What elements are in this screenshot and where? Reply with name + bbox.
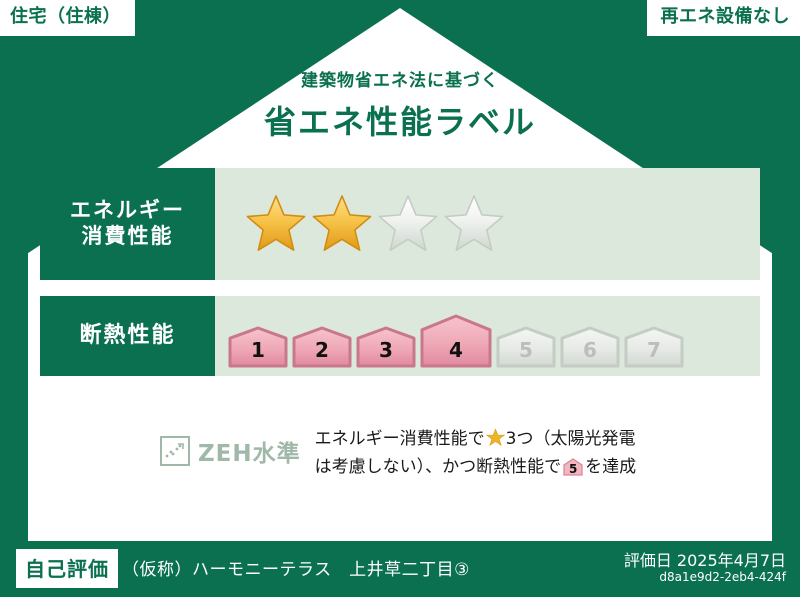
energy-label-line2: 消費性能 xyxy=(82,224,174,250)
star-empty-icon xyxy=(443,193,505,255)
zeh-desc-line1-a: エネルギー消費性能で xyxy=(315,429,485,449)
insulation-level-badge: 5 xyxy=(495,325,557,369)
insulation-level-badge: 3 xyxy=(355,325,417,369)
insulation-level-number: 1 xyxy=(227,338,289,362)
insulation-level-number: 7 xyxy=(623,338,685,362)
energy-performance-label: 住宅（住棟） 再エネ設備なし 建築物省エネ法に基づく 省エネ性能ラベル エネルギ… xyxy=(0,0,800,597)
zeh-description-line2: は考慮しない）、かつ断熱性能で5を達成 xyxy=(315,454,760,486)
label-title: 建築物省エネ法に基づく 省エネ性能ラベル xyxy=(0,66,800,143)
zeh-mark: ZEH水準 xyxy=(160,434,301,468)
insulation-level-number: 3 xyxy=(355,338,417,362)
inline-star-icon xyxy=(486,428,505,447)
zeh-description-line1: エネルギー消費性能で3つ（太陽光発電 xyxy=(315,426,760,454)
insulation-level-number: 6 xyxy=(559,338,621,362)
title-subtitle: 建築物省エネ法に基づく xyxy=(0,66,800,91)
energy-label-line1: エネルギー xyxy=(70,198,185,224)
insulation-level-number: 2 xyxy=(291,338,353,362)
insulation-label-text: 断熱性能 xyxy=(79,323,175,350)
evaluation-date: 評価日 2025年4月7日 xyxy=(624,547,786,571)
evaluation-type-badge: 自己評価 xyxy=(16,549,118,588)
zeh-chart-icon xyxy=(160,436,190,466)
insulation-level-badge: 6 xyxy=(559,325,621,369)
insulation-performance-label: 断熱性能 xyxy=(40,296,215,376)
title-main: 省エネ性能ラベル xyxy=(0,97,800,143)
star-empty-icon xyxy=(377,193,439,255)
building-name: （仮称）ハーモニーテラス 上井草二丁目③ xyxy=(122,555,470,580)
zeh-mark-label: ZEH水準 xyxy=(198,434,301,468)
zeh-desc-line1-b: 3つ（太陽光発電 xyxy=(506,429,636,449)
star-filled-icon xyxy=(245,193,307,255)
insulation-level-badge: 1 xyxy=(227,325,289,369)
zeh-description: エネルギー消費性能で3つ（太陽光発電 は考慮しない）、かつ断熱性能で5を達成 xyxy=(315,420,760,485)
insulation-level-badge: 2 xyxy=(291,325,353,369)
inline-house-badge: 5 xyxy=(563,458,583,486)
zeh-standard-row: ZEH水準 エネルギー消費性能で3つ（太陽光発電 は考慮しない）、かつ断熱性能で… xyxy=(40,420,760,485)
insulation-performance-row: 断熱性能 1234567 xyxy=(40,296,760,376)
insulation-level-badge: 7 xyxy=(623,325,685,369)
insulation-level-number: 5 xyxy=(495,338,557,362)
building-type-tag: 住宅（住棟） xyxy=(0,0,135,36)
insulation-level-scale: 1234567 xyxy=(227,313,687,369)
insulation-level-number: 4 xyxy=(419,338,493,362)
insulation-level-badge: 4 xyxy=(419,313,493,369)
zeh-desc-line2-a: は考慮しない）、かつ断熱性能で xyxy=(315,457,562,477)
evaluation-id: d8a1e9d2-2eb4-424f xyxy=(659,570,786,584)
energy-performance-row: エネルギー 消費性能 xyxy=(40,168,760,280)
star-filled-icon xyxy=(311,193,373,255)
energy-performance-label: エネルギー 消費性能 xyxy=(40,168,215,280)
renewable-energy-tag: 再エネ設備なし xyxy=(647,0,800,36)
label-footer: 自己評価 （仮称）ハーモニーテラス 上井草二丁目③ 評価日 2025年4月7日 … xyxy=(0,541,800,597)
star-rating xyxy=(215,168,760,280)
zeh-desc-line2-b: を達成 xyxy=(585,457,636,477)
inline-house-number: 5 xyxy=(563,460,583,479)
